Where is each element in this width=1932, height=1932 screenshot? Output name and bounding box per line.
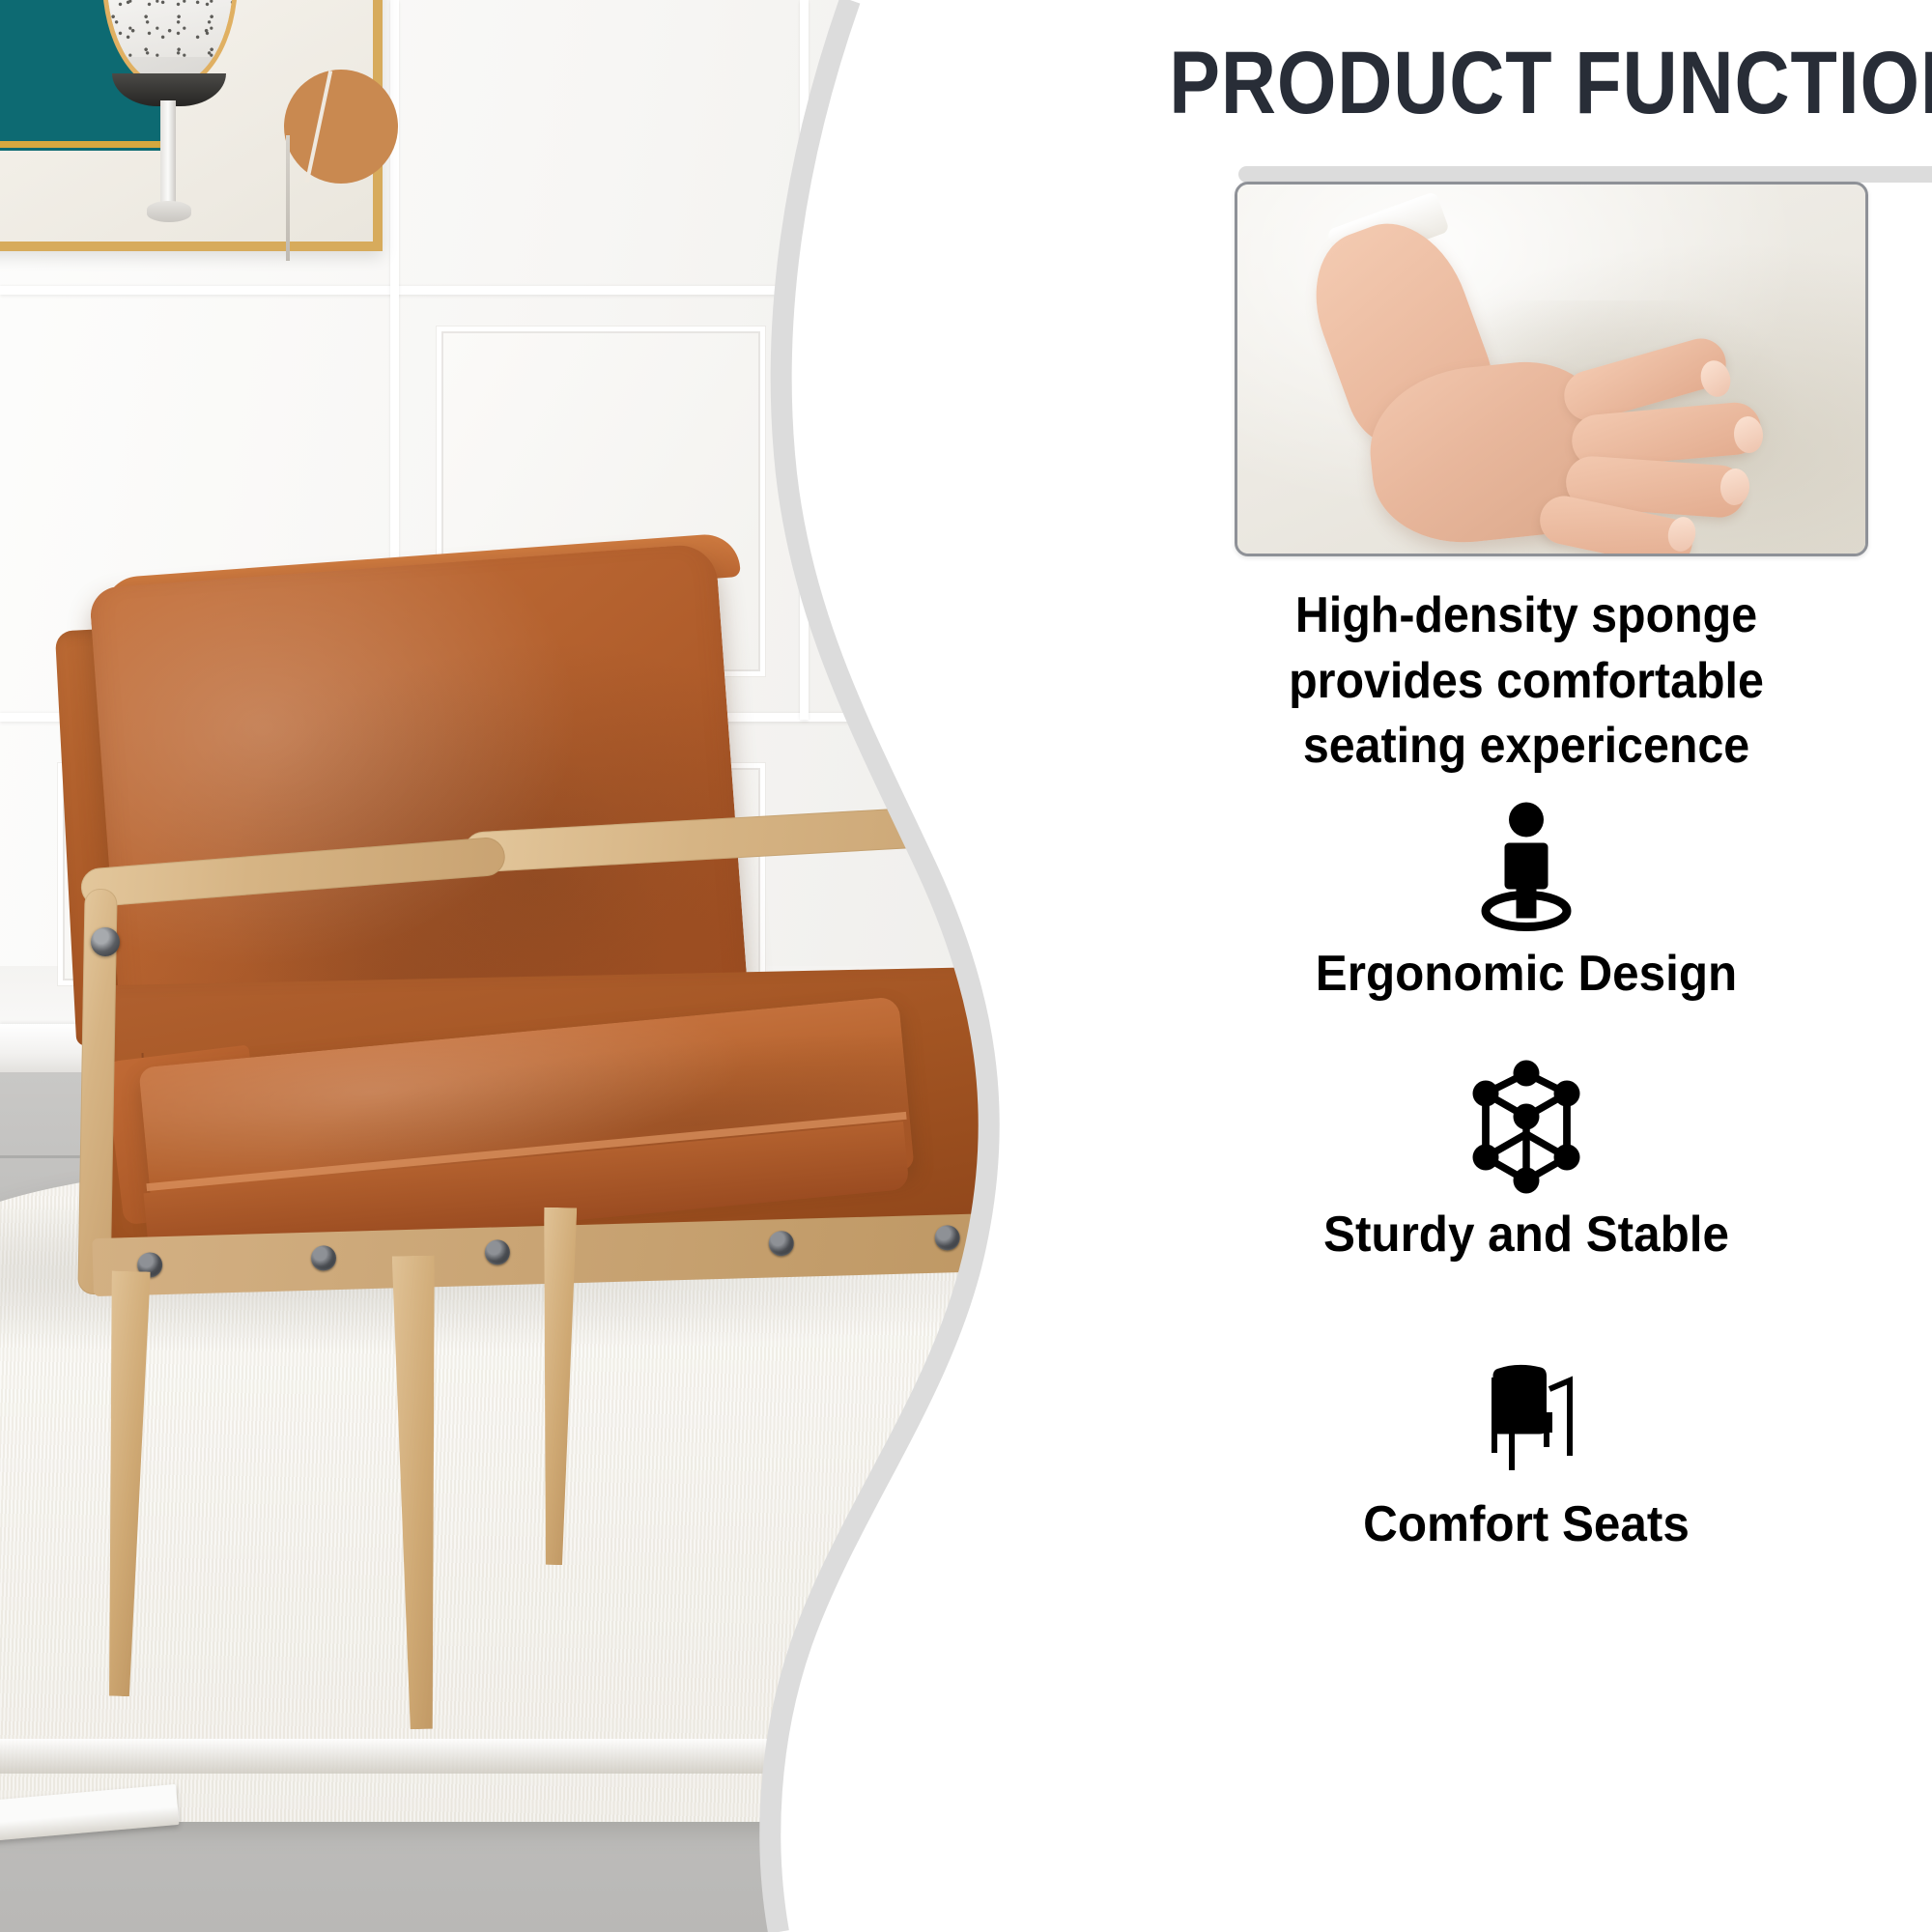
caption-line-2: provides comfortable: [1167, 649, 1886, 715]
cube-lattice-icon: [1121, 1051, 1932, 1206]
chair-rivet: [485, 1239, 511, 1265]
armchair: [0, 0, 1121, 1932]
chair-rivet: [934, 1225, 960, 1251]
feature-ergonomic-design: Ergonomic Design: [1121, 790, 1932, 1003]
page-title: PRODUCT FUNCTION: [1169, 33, 1884, 134]
feature-comfort-seats: Comfort Seats: [1121, 1341, 1932, 1553]
title-divider-bar: [1238, 166, 1932, 183]
caption-line-3: seating expericence: [1167, 714, 1886, 780]
chair-leg-back-right: [1019, 1236, 1069, 1691]
sponge-demo-photo: [1235, 182, 1868, 556]
armchair-icon: [1121, 1341, 1932, 1495]
feature-label: Ergonomic Design: [1141, 945, 1912, 1003]
chair-arm-post-right: [1006, 850, 1052, 1257]
product-function-infographic: PRODUCT FUNCTION High-density sponge pro…: [0, 0, 1932, 1932]
chair-arm-screw: [91, 927, 120, 956]
feature-label: Comfort Seats: [1141, 1495, 1912, 1553]
person-in-circle-icon: [1121, 790, 1932, 945]
sponge-caption: High-density sponge provides comfortable…: [1167, 583, 1886, 780]
caption-line-1: High-density sponge: [1167, 583, 1886, 649]
chair-rivet: [768, 1231, 794, 1257]
chair-rivet: [311, 1245, 337, 1271]
product-photo: [0, 0, 1121, 1932]
chair-leg-front-right: [392, 1256, 443, 1730]
feature-panel: PRODUCT FUNCTION High-density sponge pro…: [1121, 0, 1932, 1932]
feature-label: Sturdy and Stable: [1141, 1206, 1912, 1264]
chair-leg-front-left: [100, 1271, 151, 1697]
feature-sturdy-and-stable: Sturdy and Stable: [1121, 1051, 1932, 1264]
